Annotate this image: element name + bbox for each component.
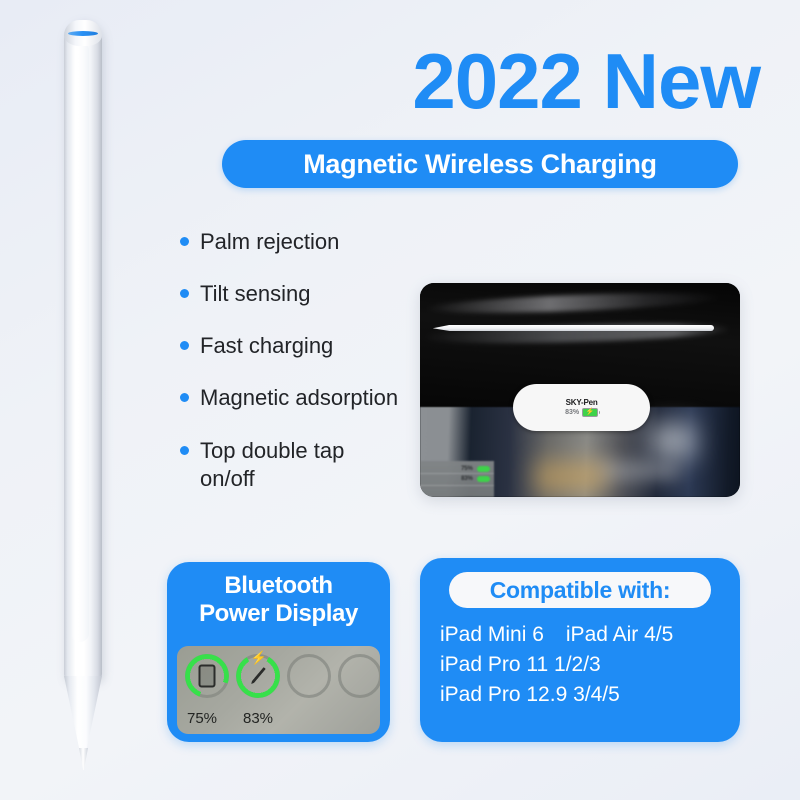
battery-icon [477,466,490,472]
ipad-edge-highlight [426,290,721,317]
stylus-taper [64,676,102,752]
widget-divider [420,473,494,474]
charging-bolt-icon: ⚡ [251,651,267,664]
feature-item: Tilt sensing [180,280,400,308]
battery-icon [477,476,490,482]
page-title: 2022 New [330,42,760,120]
background-blur-spot [535,461,605,492]
battery-ring-empty [287,654,331,698]
feature-item: Fast charging [180,332,400,360]
bullet-dot-icon [180,237,189,246]
subtitle-text: Magnetic Wireless Charging [303,149,657,180]
feature-item: Magnetic adsorption [180,384,400,412]
battery-ring-group: ⚡ [185,654,380,698]
battery-charging-icon: ⚡ [582,408,598,417]
background-blur-spot [596,463,679,479]
widget-battery-percent: 83% [461,476,472,482]
attached-stylus [433,325,715,332]
battery-ring-pencil: ⚡ [236,654,280,698]
pairing-device-name: SKY-Pen [566,398,598,407]
photo-inset: 75% 83% SKY-Pen 83% ⚡ [420,283,740,497]
compatibility-device: iPad Pro 11 1/2/3 [440,653,601,676]
bullet-dot-icon [180,289,189,298]
bluetooth-card-title: Bluetooth Power Display [177,572,380,628]
feature-label: Top double tap on/off [200,438,344,491]
compatibility-device: iPad Pro 12.9 3/4/5 [440,683,620,706]
compatibility-heading-pill: Compatible with: [449,572,711,608]
battery-percent-ipad: 75% [187,710,227,727]
compatibility-device-list: iPad Mini 6iPad Air 4/5 iPad Pro 11 1/2/… [436,620,724,709]
ipad-icon [199,665,216,688]
background-blur-spot [650,423,695,459]
subtitle-banner: Magnetic Wireless Charging [222,140,738,188]
feature-item: Palm rejection [180,228,400,256]
bullet-dot-icon [180,446,189,455]
battery-widget-blurred: 75% 83% [420,461,494,497]
widget-battery-row: 83% [461,476,489,482]
pairing-battery-percent: 83% [565,409,579,416]
product-poster: 2022 New Magnetic Wireless Charging Palm… [0,0,800,800]
bullet-dot-icon [180,341,189,350]
bluetooth-power-display-card: Bluetooth Power Display ⚡ [167,562,390,742]
feature-label: Fast charging [200,333,333,358]
bullet-dot-icon [180,393,189,402]
widget-battery-row: 75% [461,466,489,472]
feature-list: Palm rejection Tilt sensing Fast chargin… [180,228,400,517]
bluetooth-title-line1: Bluetooth [177,572,380,600]
compatibility-heading: Compatible with: [490,577,670,604]
feature-item: Top double tap on/off [180,437,400,493]
pairing-popup: SKY-Pen 83% ⚡ [513,384,651,431]
battery-ring-ipad [185,654,229,698]
pairing-status: 83% ⚡ [565,408,598,417]
feature-label: Palm rejection [200,229,339,254]
stylus-blue-accent-ring [68,31,98,36]
compatibility-card: Compatible with: iPad Mini 6iPad Air 4/5… [420,558,740,742]
compatibility-row: iPad Pro 11 1/2/3 [440,650,724,680]
widget-divider [420,485,494,486]
bolt-glyph: ⚡ [586,409,595,416]
stylus-tip [79,748,88,770]
compatibility-device: iPad Mini 6 [440,623,544,646]
ipad-battery-widget: ⚡ 75% 83% [177,646,380,734]
battery-ring-empty [338,654,380,698]
bluetooth-title-line2: Power Display [177,600,380,628]
battery-percent-row: 75% 83% [187,710,283,727]
stylus-flat-face [71,42,89,642]
compatibility-row: iPad Pro 12.9 3/4/5 [440,680,724,710]
stylus-pen-image [58,8,116,790]
compatibility-device: iPad Air 4/5 [566,623,673,646]
compatibility-row: iPad Mini 6iPad Air 4/5 [440,620,724,650]
feature-label: Tilt sensing [200,281,310,306]
battery-percent-pencil: 83% [243,710,283,727]
feature-label: Magnetic adsorption [200,385,398,410]
widget-battery-percent: 75% [461,466,472,472]
